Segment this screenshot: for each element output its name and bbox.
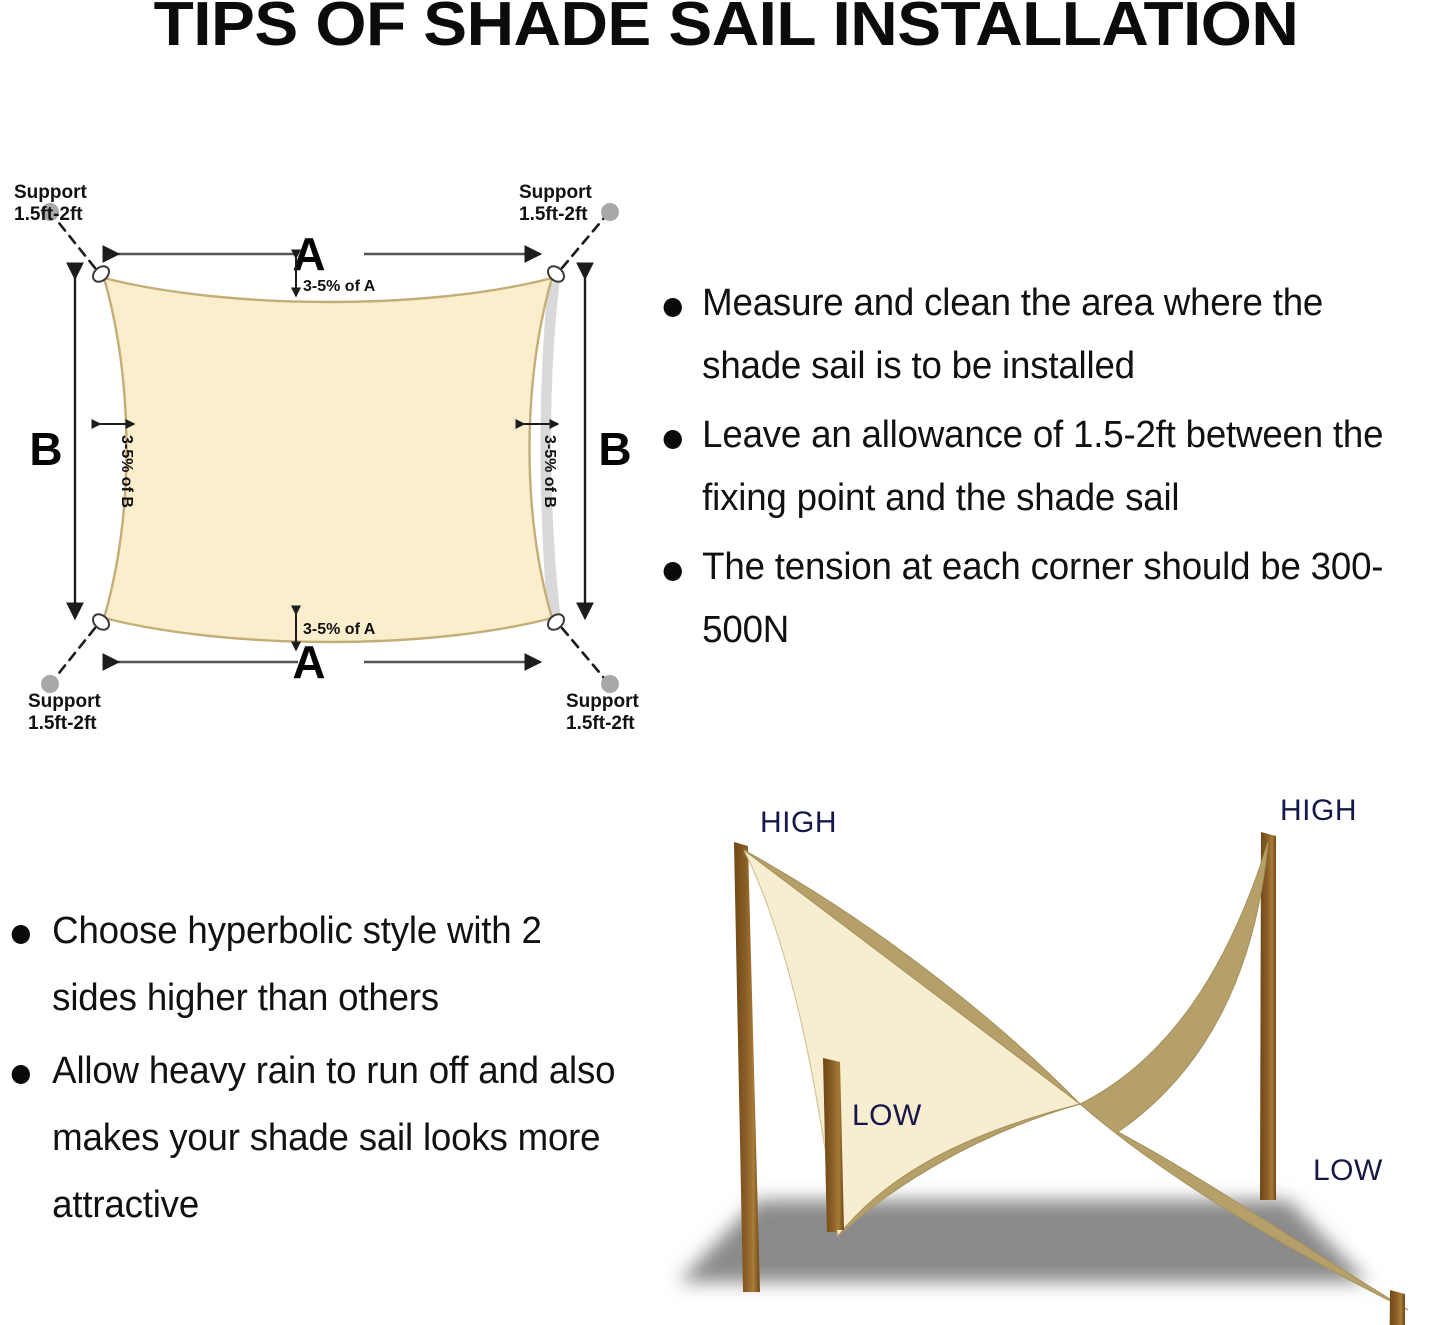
label-high-right: HIGH [1280, 794, 1357, 827]
label-low-left: LOW [852, 1099, 922, 1132]
tether-bottom-left [55, 628, 95, 678]
style-tip-item-2: Allow heavy rain to run off and also mak… [2, 1038, 620, 1239]
curve-note-top-text: 3-5% of A [303, 278, 376, 295]
support-dot-top-right [601, 203, 619, 221]
curve-note-left: 3-5% of B [100, 424, 135, 508]
support-label-top-right-line1: Support [519, 182, 592, 203]
tip-item-3: The tension at each corner should be 300… [652, 536, 1424, 662]
dim-label-left-B: B [29, 423, 62, 475]
style-tips-list: Choose hyperbolic style with 2 sides hig… [2, 898, 642, 1245]
tether-top-right [562, 218, 604, 268]
dim-label-right-B: B [598, 423, 631, 475]
tether-top-left [55, 218, 95, 268]
support-label-bottom-right-line1: Support [566, 691, 639, 712]
tip-item-1: Measure and clean the area where the sha… [652, 272, 1424, 398]
support-label-top-right-line2: 1.5ft-2ft [519, 204, 588, 225]
dim-label-bottom-A: A [292, 636, 325, 688]
tip-item-2: Leave an allowance of 1.5-2ft between th… [652, 404, 1424, 530]
style-tip-item-1: Choose hyperbolic style with 2 sides hig… [2, 898, 620, 1032]
support-label-bottom-left-line2: 1.5ft-2ft [28, 713, 97, 734]
dimension-top-A: A [118, 228, 540, 280]
support-label-bottom-right-line2: 1.5ft-2ft [566, 713, 635, 734]
dim-label-top-A: A [292, 228, 325, 280]
page-title: TIPS OF SHADE SAIL INSTALLATION [0, 0, 1452, 57]
label-low-right: LOW [1313, 1154, 1383, 1187]
curve-note-right-text: 3-5% of B [541, 435, 558, 508]
support-label-top-left-line1: Support [14, 182, 87, 203]
tether-bottom-right [562, 628, 604, 678]
shade-sail-body [104, 278, 552, 642]
curve-note-bottom-text: 3-5% of A [303, 621, 376, 638]
hyperbolic-sail-diagram: HIGH HIGH LOW LOW [648, 780, 1452, 1325]
post-low-right-front [1389, 1292, 1405, 1325]
dimension-right-B: B [585, 278, 632, 618]
curve-note-left-text: 3-5% of B [118, 435, 135, 508]
support-label-top-left-line2: 1.5ft-2ft [14, 204, 83, 225]
ground-shadow [678, 1200, 1368, 1282]
support-label-bottom-left-line1: Support [28, 691, 101, 712]
infographic-page: TIPS OF SHADE SAIL INSTALLATION [0, 0, 1452, 1325]
label-high-left: HIGH [760, 806, 837, 839]
installation-tips-list: Measure and clean the area where the sha… [652, 272, 1452, 668]
rect-sail-diagram: Support 1.5ft-2ft Support 1.5ft-2ft Supp… [0, 150, 700, 750]
dimension-left-B: B [29, 278, 75, 618]
